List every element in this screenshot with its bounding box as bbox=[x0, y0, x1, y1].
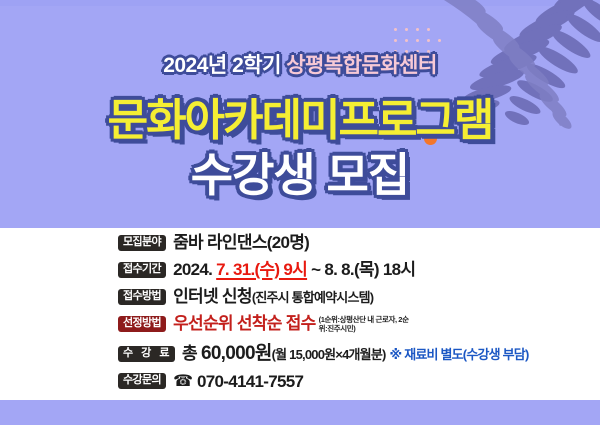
fee-amount: 60,000원 bbox=[201, 343, 272, 364]
row-value-selection: 우선순위 선착순 접수(1순위:상평산단 내 근로자, 2순위:진주시민) bbox=[173, 315, 415, 333]
footer-band bbox=[0, 400, 600, 425]
selection-main: 우선순위 선착순 접수 bbox=[173, 314, 316, 333]
row-value-phone: 070-4141-7557 bbox=[197, 373, 303, 390]
fee-note: (월 15,000원×4개월분) bbox=[272, 347, 386, 362]
poster-subtitle: 2024년 2학기 상평복합문화센터 bbox=[0, 49, 600, 79]
info-row-selection: 선정방법 우선순위 선착순 접수(1순위:상평산단 내 근로자, 2순위:진주시… bbox=[118, 315, 415, 333]
row-label-field: 모집분야 bbox=[118, 235, 166, 251]
selection-note: (1순위:상평산단 내 근로자, 2순위:진주시민) bbox=[319, 316, 415, 333]
info-row-fee: 수 강 료 총 60,000원(월 15,000원×4개월분) ※ 재료비 별도… bbox=[118, 344, 528, 363]
row-value-method: 인터넷 신청(진주시 통합예약시스템) bbox=[173, 288, 373, 305]
row-value-fee: 총 60,000원(월 15,000원×4개월분) ※ 재료비 별도(수강생 부… bbox=[182, 344, 529, 363]
info-row-contact: 수강문의 ☎ 070-4141-7557 bbox=[118, 371, 303, 391]
row-value-period: 2024. 7. 31.(수) 9시 ~ 8. 8.(목) 18시 bbox=[173, 261, 415, 278]
info-row-field: 모집분야 줌바 라인댄스(20명) bbox=[118, 234, 309, 251]
row-label-selection: 선정방법 bbox=[118, 316, 166, 332]
info-row-method: 접수방법 인터넷 신청(진주시 통합예약시스템) bbox=[118, 288, 373, 305]
info-row-period: 접수기간 2024. 7. 31.(수) 9시 ~ 8. 8.(목) 18시 bbox=[118, 261, 415, 278]
period-prefix: 2024. bbox=[173, 260, 216, 279]
telephone-icon: ☎ bbox=[173, 371, 193, 391]
header-band: 2024년 2학기 상평복합문화센터 문화아카데미프로그램 수강생 모집 bbox=[0, 0, 600, 228]
period-suffix: ~ 8. 8.(목) 18시 bbox=[307, 260, 415, 279]
period-highlight: 7. 31.(수) 9시 bbox=[216, 260, 307, 279]
fee-prefix: 총 bbox=[182, 344, 201, 363]
row-label-contact: 수강문의 bbox=[118, 373, 166, 389]
subtitle-prefix: 2024년 2학기 bbox=[163, 54, 286, 77]
method-note: (진주시 통합예약시스템) bbox=[252, 290, 373, 305]
row-label-method: 접수방법 bbox=[118, 289, 166, 305]
row-value-field: 줌바 라인댄스(20명) bbox=[173, 234, 309, 251]
row-label-fee: 수 강 료 bbox=[118, 346, 175, 362]
method-main: 인터넷 신청 bbox=[173, 287, 252, 306]
poster-title-line2: 수강생 모집 bbox=[0, 139, 600, 205]
row-label-period: 접수기간 bbox=[118, 262, 166, 278]
fee-extra-note: ※ 재료비 별도(수강생 부담) bbox=[390, 347, 529, 362]
info-section: 모집분야 줌바 라인댄스(20명) 접수기간 2024. 7. 31.(수) 9… bbox=[0, 228, 600, 400]
poster-root: 2024년 2학기 상평복합문화센터 문화아카데미프로그램 수강생 모집 모집분… bbox=[0, 0, 600, 425]
subtitle-highlight: 상평복합문화센터 bbox=[286, 54, 437, 77]
